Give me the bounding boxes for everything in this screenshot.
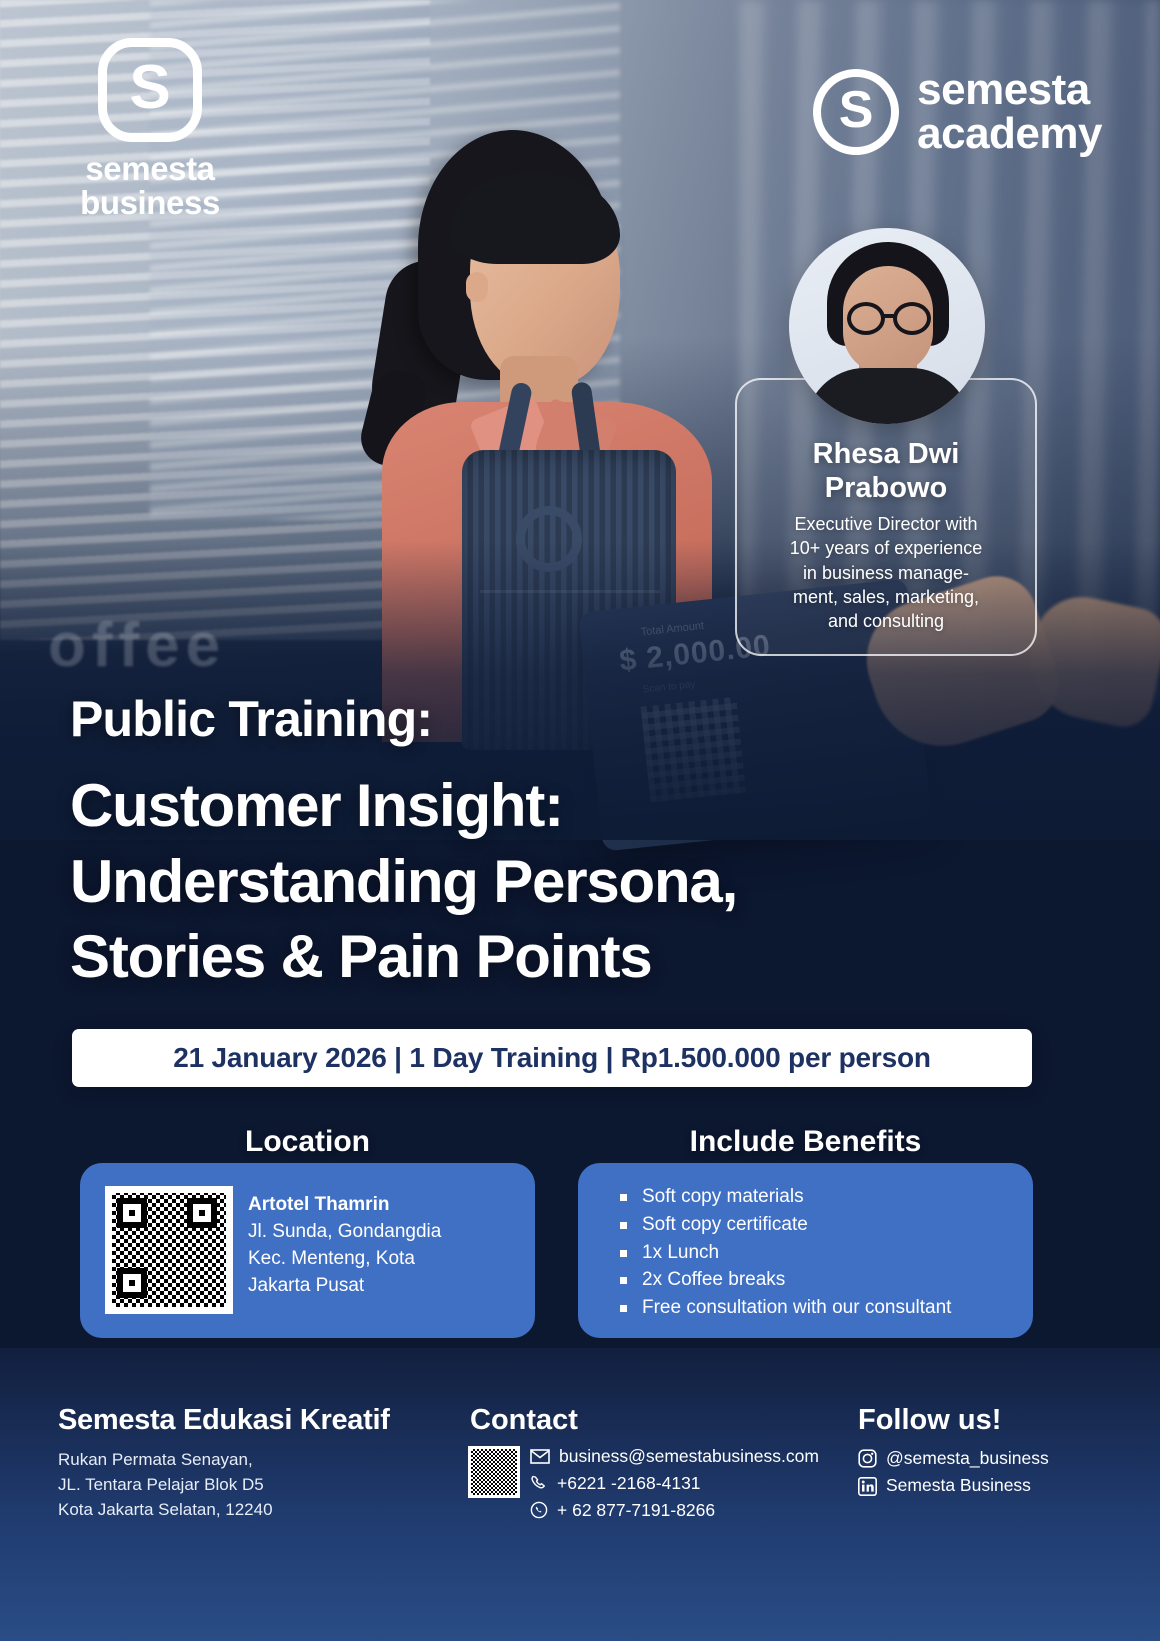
speaker-name-line2: Prabowo bbox=[737, 472, 1035, 506]
location-qr-code[interactable] bbox=[105, 1186, 233, 1314]
speaker-bio-line1: Executive Director with bbox=[755, 512, 1017, 536]
footer-whatsapp: + 62 877-7191-8266 bbox=[557, 1497, 715, 1524]
speaker-bio-line5: and consulting bbox=[755, 609, 1017, 633]
linkedin-icon bbox=[858, 1477, 877, 1496]
semesta-academy-s-mark-icon: S bbox=[813, 69, 899, 155]
footer-email-row[interactable]: business@semestabusiness.com bbox=[530, 1443, 819, 1470]
location-addr-line2: Kec. Menteng, Kota bbox=[248, 1246, 528, 1273]
speaker-bio-line3: in business manage- bbox=[755, 561, 1017, 585]
envelope-icon bbox=[530, 1449, 550, 1464]
title-block: Public Training: Customer Insight: Under… bbox=[70, 690, 970, 995]
footer-phone: +6221 -2168-4131 bbox=[557, 1470, 701, 1497]
footer-company-name: Semesta Edukasi Kreatif bbox=[58, 1404, 390, 1437]
logo-word-line2: business bbox=[60, 186, 240, 220]
speaker-bio-line2: 10+ years of experience bbox=[755, 536, 1017, 560]
whatsapp-icon bbox=[530, 1501, 548, 1519]
logo-mark-letter: S bbox=[129, 60, 170, 116]
semesta-academy-logo: S semesta academy bbox=[813, 68, 1102, 156]
pretitle: Public Training: bbox=[70, 690, 970, 748]
list-item: 2x Coffee breaks bbox=[616, 1267, 1026, 1293]
footer-phone-row[interactable]: +6221 -2168-4131 bbox=[530, 1470, 819, 1497]
footer-instagram-row[interactable]: @semesta_business bbox=[858, 1445, 1049, 1472]
main-title-line2: Understanding Persona, bbox=[70, 844, 970, 920]
footer-instagram: @semesta_business bbox=[886, 1445, 1049, 1472]
date-price-banner: 21 January 2026 | 1 Day Training | Rp1.5… bbox=[72, 1029, 1032, 1087]
footer-addr-line3: Kota Jakarta Selatan, 12240 bbox=[58, 1498, 388, 1523]
benefits-heading: Include Benefits bbox=[578, 1125, 1033, 1159]
footer-contact-list: business@semestabusiness.com +6221 -2168… bbox=[530, 1443, 819, 1523]
phone-icon bbox=[530, 1474, 548, 1492]
location-venue-name: Artotel Thamrin bbox=[248, 1192, 528, 1219]
background-sign-text: offee bbox=[48, 610, 226, 681]
benefits-list: Soft copy materials Soft copy certificat… bbox=[616, 1184, 1026, 1323]
footer-follow-heading: Follow us! bbox=[858, 1404, 1001, 1437]
speaker-name-line1: Rhesa Dwi bbox=[737, 438, 1035, 472]
footer-linkedin: Semesta Business bbox=[886, 1472, 1031, 1499]
academy-word-line2: academy bbox=[917, 112, 1102, 156]
contact-qr-code[interactable] bbox=[468, 1446, 520, 1498]
footer-whatsapp-row[interactable]: + 62 877-7191-8266 bbox=[530, 1497, 819, 1524]
list-item: Soft copy materials bbox=[616, 1184, 1026, 1210]
location-address: Artotel Thamrin Jl. Sunda, Gondangdia Ke… bbox=[248, 1192, 528, 1300]
speaker-name: Rhesa Dwi Prabowo bbox=[737, 438, 1035, 506]
location-addr-line3: Jakarta Pusat bbox=[248, 1273, 528, 1300]
list-item: Soft copy certificate bbox=[616, 1212, 1026, 1238]
main-title: Customer Insight: Understanding Persona,… bbox=[70, 768, 970, 995]
speaker-bio: Executive Director with 10+ years of exp… bbox=[755, 512, 1017, 633]
footer-linkedin-row[interactable]: Semesta Business bbox=[858, 1472, 1049, 1499]
location-heading: Location bbox=[80, 1125, 535, 1159]
footer-contact-heading: Contact bbox=[470, 1404, 578, 1437]
speaker-avatar bbox=[789, 228, 985, 424]
footer-email: business@semestabusiness.com bbox=[559, 1443, 819, 1470]
footer-social-list: @semesta_business Semesta Business bbox=[858, 1445, 1049, 1500]
footer-address: Rukan Permata Senayan, JL. Tentara Pelaj… bbox=[58, 1448, 388, 1523]
footer-addr-line2: JL. Tentara Pelajar Blok D5 bbox=[58, 1473, 388, 1498]
semesta-academy-wordmark: semesta academy bbox=[917, 68, 1102, 156]
main-title-line3: Stories & Pain Points bbox=[70, 919, 970, 995]
list-item: 1x Lunch bbox=[616, 1240, 1026, 1266]
speaker-bio-line4: ment, sales, marketing, bbox=[755, 585, 1017, 609]
footer-addr-line1: Rukan Permata Senayan, bbox=[58, 1448, 388, 1473]
semesta-business-wordmark: semesta business bbox=[60, 152, 240, 221]
location-addr-line1: Jl. Sunda, Gondangdia bbox=[248, 1219, 528, 1246]
list-item: Free consultation with our consultant bbox=[616, 1295, 1026, 1321]
poster-root: Total Amount $ 2,000.00 Scan to pay offe… bbox=[0, 0, 1160, 1641]
instagram-icon bbox=[858, 1449, 877, 1468]
semesta-business-logo: S semesta business bbox=[60, 38, 240, 221]
main-title-line1: Customer Insight: bbox=[70, 768, 970, 844]
semesta-s-mark-icon: S bbox=[98, 38, 202, 142]
academy-mark-letter: S bbox=[839, 88, 874, 132]
logo-word-line1: semesta bbox=[60, 152, 240, 186]
academy-word-line1: semesta bbox=[917, 68, 1102, 112]
